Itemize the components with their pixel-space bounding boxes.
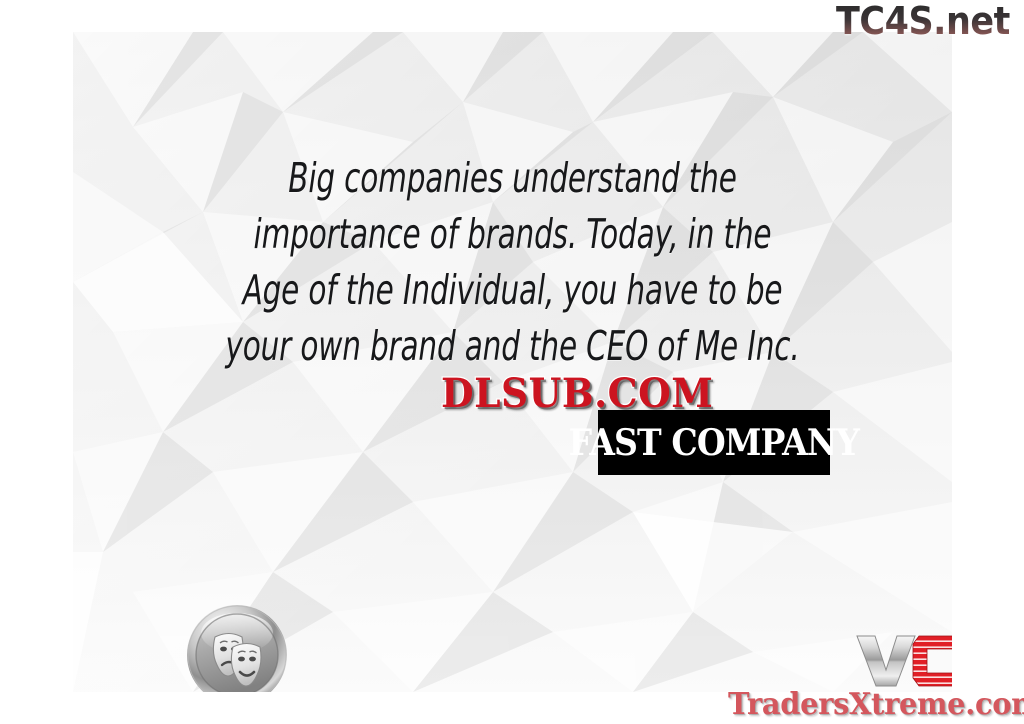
vcf-logo-svg [855, 630, 952, 690]
slide-canvas: Big companies understand the importance … [73, 32, 952, 692]
vcf-logo [855, 630, 952, 690]
tc4s-watermark: TC4S.net [836, 2, 1010, 40]
theatre-masks-badge-svg [185, 603, 289, 692]
dlsub-watermark: DLSUB.COM [441, 370, 713, 417]
vcf-letter-c [913, 636, 952, 686]
quote-text: Big companies understand the importance … [201, 150, 824, 374]
fast-company-logo: FAST COMPANY [598, 410, 830, 475]
fast-company-wordmark: FAST COMPANY [569, 425, 859, 461]
theatre-masks-badge [185, 603, 289, 692]
vcf-letter-v [857, 636, 915, 686]
tradersxtreme-watermark: TradersXtreme.com [728, 690, 1024, 720]
